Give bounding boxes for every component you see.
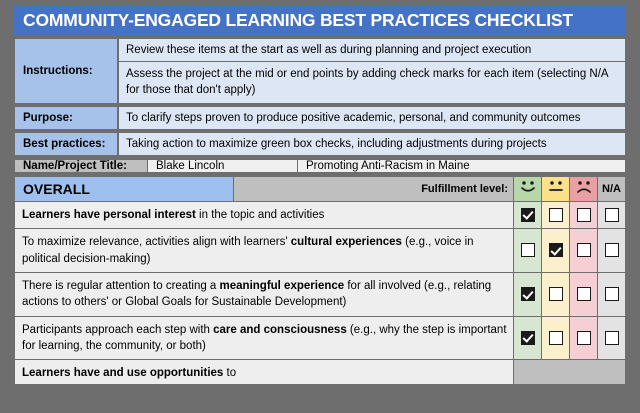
checklist-item-text: To maximize relevance, activities align … xyxy=(15,229,514,273)
instructions-line-1: Review these items at the start as well … xyxy=(118,38,626,62)
checkbox-empty-icon[interactable] xyxy=(549,208,563,222)
checkbox-cell-yellow[interactable] xyxy=(542,229,570,273)
project-title-field[interactable]: Promoting Anti-Racism in Maine xyxy=(298,159,626,173)
section-heading: OVERALL xyxy=(15,177,234,202)
checkbox-cell-yellow[interactable] xyxy=(542,272,570,316)
instructions-line-2: Assess the project at the mid or end poi… xyxy=(118,62,626,104)
neutral-face-icon xyxy=(542,179,569,200)
name-project-row: Name/Project Title: Blake Lincoln Promot… xyxy=(14,159,626,173)
column-header-yellow xyxy=(542,177,570,202)
best-practices-row: Best practices: Taking action to maximiz… xyxy=(14,132,626,156)
checklist-item-text: There is regular attention to creating a… xyxy=(15,272,514,316)
checkbox-empty-icon[interactable] xyxy=(605,287,619,301)
checkbox-empty-icon[interactable] xyxy=(577,243,591,257)
checklist-row: Learners have personal interest in the t… xyxy=(15,202,626,229)
checkbox-checked-icon[interactable] xyxy=(521,208,535,222)
checkbox-cell-na[interactable] xyxy=(598,316,626,360)
column-header-green xyxy=(514,177,542,202)
checkbox-cell-red[interactable] xyxy=(570,229,598,273)
checkbox-cell-green[interactable] xyxy=(514,202,542,229)
checkbox-empty-icon[interactable] xyxy=(577,331,591,345)
checkbox-empty-icon[interactable] xyxy=(605,208,619,222)
checkbox-empty-icon[interactable] xyxy=(605,243,619,257)
checklist-item-text: Learners have and use opportunities to xyxy=(15,360,514,384)
name-field[interactable]: Blake Lincoln xyxy=(148,159,298,173)
smiley-face-icon xyxy=(514,179,541,200)
checkbox-empty-icon[interactable] xyxy=(549,287,563,301)
instructions-row: Instructions: Review these items at the … xyxy=(14,38,626,104)
checkbox-empty-icon[interactable] xyxy=(577,208,591,222)
checkbox-checked-icon[interactable] xyxy=(521,331,535,345)
best-practices-label: Best practices: xyxy=(14,132,118,156)
column-header-red xyxy=(570,177,598,202)
checklist-row: To maximize relevance, activities align … xyxy=(15,229,626,273)
checkbox-cell-green[interactable] xyxy=(514,272,542,316)
column-header-na: N/A xyxy=(598,177,626,202)
name-project-label: Name/Project Title: xyxy=(14,159,148,173)
checkbox-cell-na[interactable] xyxy=(598,202,626,229)
best-practices-value: Taking action to maximize green box chec… xyxy=(118,132,626,156)
checkbox-cell-green[interactable] xyxy=(514,316,542,360)
checkbox-checked-icon[interactable] xyxy=(549,243,563,257)
checkbox-cell-yellow[interactable] xyxy=(542,316,570,360)
checkbox-empty-icon[interactable] xyxy=(577,287,591,301)
purpose-label: Purpose: xyxy=(14,106,118,130)
checkbox-checked-icon[interactable] xyxy=(521,287,535,301)
checkbox-cell-na[interactable] xyxy=(598,229,626,273)
section-header-row: OVERALL Fulfillment level: xyxy=(15,177,626,202)
page-title: COMMUNITY-ENGAGED LEARNING BEST PRACTICE… xyxy=(14,5,626,36)
checkbox-cell-red[interactable] xyxy=(570,272,598,316)
purpose-row: Purpose: To clarify steps proven to prod… xyxy=(14,106,626,130)
checkbox-cell-na[interactable] xyxy=(598,272,626,316)
purpose-value: To clarify steps proven to produce posit… xyxy=(118,106,626,130)
checkbox-cell-yellow[interactable] xyxy=(542,202,570,229)
instructions-label: Instructions: xyxy=(14,38,118,104)
checkbox-cell-red[interactable] xyxy=(570,316,598,360)
checklist-item-text: Learners have personal interest in the t… xyxy=(15,202,514,229)
checklist-table: OVERALL Fulfillment level: xyxy=(14,176,626,385)
checklist-item-text: Participants approach each step with car… xyxy=(15,316,514,360)
checkbox-cell-green[interactable] xyxy=(514,229,542,273)
checklist-row: There is regular attention to creating a… xyxy=(15,272,626,316)
fulfillment-level-label: Fulfillment level: xyxy=(234,177,514,202)
frowning-face-icon xyxy=(570,179,597,200)
checkbox-cell-blank xyxy=(514,360,626,384)
checkbox-cell-red[interactable] xyxy=(570,202,598,229)
checklist-row: Participants approach each step with car… xyxy=(15,316,626,360)
checkbox-empty-icon[interactable] xyxy=(549,331,563,345)
checkbox-empty-icon[interactable] xyxy=(521,243,535,257)
checklist-sheet: COMMUNITY-ENGAGED LEARNING BEST PRACTICE… xyxy=(14,5,626,385)
checkbox-empty-icon[interactable] xyxy=(605,331,619,345)
checklist-row-partial: Learners have and use opportunities to xyxy=(15,360,626,384)
